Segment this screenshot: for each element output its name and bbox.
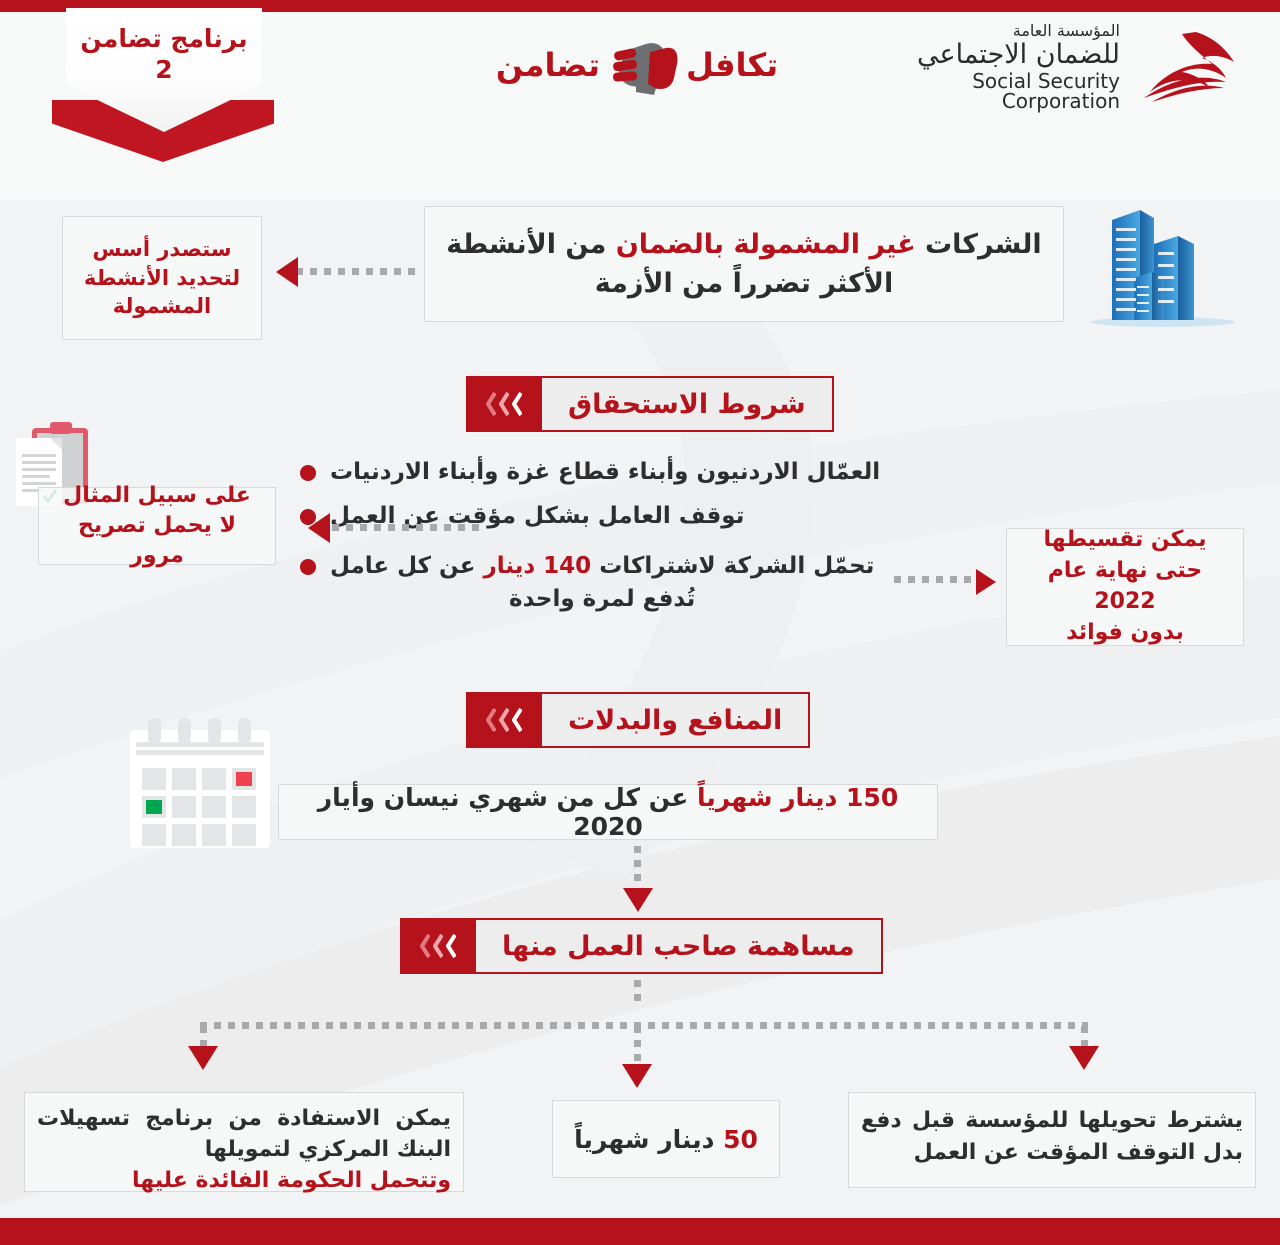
branch-text-monthly-amount: 50 دينار شهرياً <box>574 1125 758 1154</box>
section-employer-title: مساهمة صاحب العمل منها <box>400 918 883 974</box>
section-conditions-title: شروط الاستحقاق <box>466 376 834 432</box>
activities-basis-note-text: ستصدر أسس لتحديد الأنشطة المشمولة <box>75 235 249 320</box>
conditions-chevron-tab <box>466 376 542 432</box>
section-benefits-title: المنافع والبدلات <box>466 692 810 748</box>
calendar-red-day <box>236 772 252 786</box>
calendar-icon <box>126 716 274 852</box>
benefit-amount-box: 150 دينار شهرياً عن كل من شهري نيسان وأي… <box>278 784 938 840</box>
benefits-title-plate: المنافع والبدلات <box>540 692 810 748</box>
branch2-amount-unit: دينار شهرياً <box>574 1125 723 1154</box>
arrow-branch-center <box>622 1064 652 1088</box>
benefit-amount-value: 150 دينار شهرياً <box>697 783 898 812</box>
installment-line3: بدون فوائد <box>1019 618 1231 649</box>
arrow-condition2-to-example <box>308 513 330 543</box>
condition3-part-b: عن كل عامل <box>330 553 483 579</box>
condition-text-1: العمّال الاردنيون وأبناء قطاع غزة وأبناء… <box>330 456 880 488</box>
arrow-branch-right <box>1069 1046 1099 1070</box>
installment-note-text: يمكن تقسيطها حتى نهاية عام 2022 بدون فوا… <box>1019 525 1231 648</box>
employer-title-label: مساهمة صاحب العمل منها <box>502 931 855 962</box>
example-note-box: على سبيل المثال لا يحمل تصريح مرور <box>38 487 276 565</box>
chevron-left-icon <box>486 707 496 733</box>
two-fists-icon <box>606 34 680 96</box>
conditions-title-plate: شروط الاستحقاق <box>540 376 834 432</box>
ssc-english-name: Social Security Corporation <box>860 71 1120 111</box>
ssc-arabic-line1: المؤسسة العامة <box>860 23 1120 39</box>
ssc-arabic-line2: للضمان الاجتماعي <box>860 41 1120 68</box>
branch-box-transfer-condition: يشترط تحويلها للمؤسسة قبل دفع بدل التوقف… <box>848 1092 1256 1188</box>
connector-statement-to-note <box>296 268 422 275</box>
arrow-condition3-to-installment <box>976 569 996 595</box>
bottom-red-bar <box>0 1218 1280 1245</box>
ssc-bird-mark-icon <box>1130 28 1260 106</box>
condition3-amount: 140 دينار <box>483 553 591 579</box>
branch-box-central-bank: يمكن الاستفادة من برنامج تسهيلات البنك ا… <box>24 1092 464 1192</box>
campaign-brand: تكافل تضامن <box>472 30 802 100</box>
chevron-left-icon <box>499 707 509 733</box>
benefit-amount-period: عن كل من شهري نيسان وأيار 2020 <box>318 783 697 841</box>
statement-highlight: غير المشمولة بالضمان <box>616 229 916 260</box>
benefits-chevron-tab <box>466 692 542 748</box>
branch-drop-left <box>200 1026 207 1048</box>
condition-text-3: تحمّل الشركة لاشتراكات 140 دينار عن كل ع… <box>330 550 874 614</box>
conditions-bullet-list: العمّال الاردنيون وأبناء قطاع غزة وأبناء… <box>300 456 900 627</box>
branch1-dark-text: يمكن الاستفادة من برنامج تسهيلات البنك ا… <box>37 1106 451 1162</box>
activities-basis-note-box: ستصدر أسس لتحديد الأنشطة المشمولة <box>62 216 262 340</box>
branch-trunk-vertical <box>634 980 641 1006</box>
program-badge: برنامج تضامن 2 <box>38 8 288 168</box>
chevron-left-icon <box>486 391 496 417</box>
main-statement-box: الشركات غير المشمولة بالضمان من الأنشطة … <box>424 206 1064 322</box>
chevron-left-icon <box>446 933 456 959</box>
conditions-title-label: شروط الاستحقاق <box>568 389 806 420</box>
chevron-left-icon <box>433 933 443 959</box>
buildings-icon <box>1078 196 1248 332</box>
bullet-dot-icon <box>300 465 316 481</box>
benefits-title-label: المنافع والبدلات <box>568 705 782 736</box>
campaign-word-takaful: تكافل <box>686 46 778 84</box>
example-line1: على سبيل المثال <box>51 481 263 511</box>
arrow-statement-to-note <box>276 257 298 287</box>
installment-line1: يمكن تقسيطها <box>1019 525 1231 556</box>
chevron-left-icon <box>512 391 522 417</box>
list-item: العمّال الاردنيون وأبناء قطاع غزة وأبناء… <box>300 456 900 488</box>
example-note-text: على سبيل المثال لا يحمل تصريح مرور <box>51 481 263 570</box>
statement-part1: الشركات <box>916 229 1042 260</box>
branch-drop-right <box>1081 1026 1088 1048</box>
branch-text-central-bank: يمكن الاستفادة من برنامج تسهيلات البنك ا… <box>37 1103 451 1197</box>
installment-note-box: يمكن تقسيطها حتى نهاية عام 2022 بدون فوا… <box>1006 528 1244 646</box>
badge-title: برنامج تضامن 2 <box>80 24 247 85</box>
employer-title-plate: مساهمة صاحب العمل منها <box>474 918 883 974</box>
badge-number: 2 <box>80 55 247 86</box>
calendar-green-day <box>146 800 162 814</box>
list-item: تحمّل الشركة لاشتراكات 140 دينار عن كل ع… <box>300 550 900 614</box>
chevron-left-icon <box>512 707 522 733</box>
branch2-amount-value: 50 <box>723 1125 758 1154</box>
branch-drop-center <box>634 1026 641 1068</box>
badge-title-text: برنامج تضامن <box>80 24 247 53</box>
branch-box-monthly-amount: 50 دينار شهرياً <box>552 1100 780 1178</box>
ssc-logo: المؤسسة العامة للضمان الاجتماعي Social S… <box>860 22 1260 112</box>
infographic-page: برنامج تضامن 2 تكافل تضامن المؤسسة العام… <box>0 0 1280 1245</box>
example-line2: لا يحمل تصريح مرور <box>51 511 263 570</box>
chevron-left-icon <box>420 933 430 959</box>
benefit-amount-text: 150 دينار شهرياً عن كل من شهري نيسان وأي… <box>291 783 925 841</box>
bullet-dot-icon <box>300 559 316 575</box>
condition3-part-a: تحمّل الشركة لاشتراكات <box>591 553 874 579</box>
condition3-line2: تُدفع لمرة واحدة <box>330 583 874 615</box>
connector-condition2-to-example <box>332 524 484 531</box>
main-statement-text: الشركات غير المشمولة بالضمان من الأنشطة … <box>437 225 1051 303</box>
employer-chevron-tab <box>400 918 476 974</box>
branch-horizontal-rail <box>200 1022 1088 1029</box>
connector-condition3-to-installment <box>894 576 976 583</box>
arrow-benefit-to-employer <box>623 888 653 912</box>
campaign-word-tadamun: تضامن <box>496 46 600 84</box>
installment-line2: حتى نهاية عام 2022 <box>1019 556 1231 618</box>
ssc-logo-text: المؤسسة العامة للضمان الاجتماعي Social S… <box>860 23 1120 111</box>
chevron-left-icon <box>499 391 509 417</box>
branch1-red-text: وتتحمل الحكومة الفائدة عليها <box>37 1165 451 1196</box>
arrow-branch-left <box>188 1046 218 1070</box>
connector-benefit-to-employer <box>634 846 641 892</box>
branch-text-transfer-condition: يشترط تحويلها للمؤسسة قبل دفع بدل التوقف… <box>861 1105 1243 1169</box>
